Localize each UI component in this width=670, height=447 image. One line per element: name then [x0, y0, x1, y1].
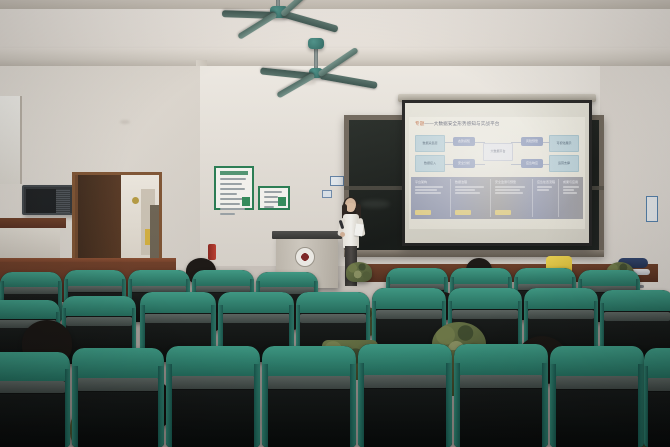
diagram-connector — [543, 142, 550, 143]
emblem-ring — [299, 251, 311, 263]
slide-title-accent: 专题 — [415, 121, 424, 126]
projection-screen: 专题——大数据安全形势感知与实战平台 数据采集层 数据接入 态势感知 安全分析 … — [405, 103, 589, 243]
presenter-papers — [354, 224, 364, 237]
diagram-connector — [543, 164, 550, 165]
fire-extinguisher — [208, 244, 216, 260]
seat-foreground — [550, 346, 644, 447]
seat-foreground — [358, 344, 452, 447]
slide-panel-4: 应急处置流程 — [535, 179, 557, 217]
poster-header-bar — [220, 171, 248, 175]
seat-foreground — [166, 346, 260, 447]
cabinet-shelf — [26, 189, 56, 213]
panel-heading: 平台架构 — [415, 181, 447, 185]
seat-foreground — [454, 344, 548, 447]
podium-emblem — [295, 247, 315, 267]
poster-stamp — [278, 197, 286, 206]
diagram-pill-1: 态势感知 — [453, 137, 475, 146]
slide-panel-5: 成果与应用 — [561, 179, 583, 217]
presenter-hand — [340, 232, 345, 237]
panel-heading: 应急处置流程 — [537, 181, 555, 185]
slide-panel-2: 数据治理 — [453, 179, 489, 217]
diagram-pill-2: 安全分析 — [453, 159, 475, 168]
presentation-slide: 专题——大数据安全形势感知与实战平台 数据采集层 数据接入 态势感知 安全分析 … — [409, 117, 585, 229]
hallway-object — [132, 197, 139, 204]
slide-flow-diagram: 数据采集层 数据接入 态势感知 安全分析 大数据平台 风险预警 应急响应 可视化… — [415, 135, 579, 175]
left-window — [0, 96, 22, 184]
slide-panel-1: 平台架构 — [413, 179, 449, 217]
diagram-center-box: 大数据平台 — [483, 143, 513, 161]
wall-sign-small — [322, 190, 332, 198]
diagram-connector — [475, 164, 485, 165]
speaker-grill — [56, 189, 70, 213]
lecture-hall-photo: 专题——大数据安全形势感知与实战平台 数据采集层 数据接入 态势感知 安全分析 … — [0, 0, 670, 447]
panel-chip — [415, 210, 431, 215]
audience-camo-cap — [346, 262, 372, 282]
diagram-left-box-2: 数据接入 — [415, 155, 445, 172]
diagram-connector — [445, 142, 453, 143]
slide-title-text: ——大数据安全形势感知与实战平台 — [424, 121, 499, 126]
diagram-connector — [511, 142, 521, 143]
podium-surface — [272, 231, 342, 239]
side-table-top — [0, 218, 66, 228]
diagram-left-box-1: 数据采集层 — [415, 135, 445, 152]
panel-heading: 安全监测与预警 — [495, 181, 529, 185]
ceiling-edge-beam — [0, 0, 670, 9]
diagram-connector — [445, 164, 453, 165]
diagram-pill-3: 风险预警 — [521, 137, 543, 146]
seat-foreground — [262, 346, 356, 447]
fan-motor-top — [308, 38, 324, 49]
notice-poster-small — [258, 186, 290, 210]
diagram-right-box-2: 运营支撑 — [549, 155, 579, 172]
panel-heading: 数据治理 — [455, 181, 487, 185]
diagram-right-box-1: 可视化展示 — [549, 135, 579, 152]
diagram-pill-4: 应急响应 — [521, 159, 543, 168]
presenter-face — [346, 203, 355, 212]
wall-scuff — [120, 120, 130, 124]
panel-chip — [495, 210, 511, 215]
panel-heading: 成果与应用 — [563, 181, 581, 185]
seat-foreground — [644, 348, 670, 447]
diagram-connector — [475, 142, 485, 143]
panel-chip — [455, 210, 471, 215]
poster-stamp — [242, 197, 250, 206]
slide-title: 专题——大数据安全形势感知与实战平台 — [415, 121, 500, 127]
slide-panel-3: 安全监测与预警 — [493, 179, 531, 217]
chalk-smudge — [360, 200, 390, 208]
diagram-connector — [511, 164, 521, 165]
seat-foreground — [72, 348, 164, 447]
seat-foreground — [0, 352, 70, 447]
right-wall-poster — [646, 196, 658, 222]
slide-lower-band: 平台架构 数据治理 安全监测与预警 — [411, 177, 583, 219]
wall-sign-blue — [330, 176, 344, 186]
wall-speaker-cabinet — [22, 185, 74, 215]
notice-poster-large — [214, 166, 254, 210]
